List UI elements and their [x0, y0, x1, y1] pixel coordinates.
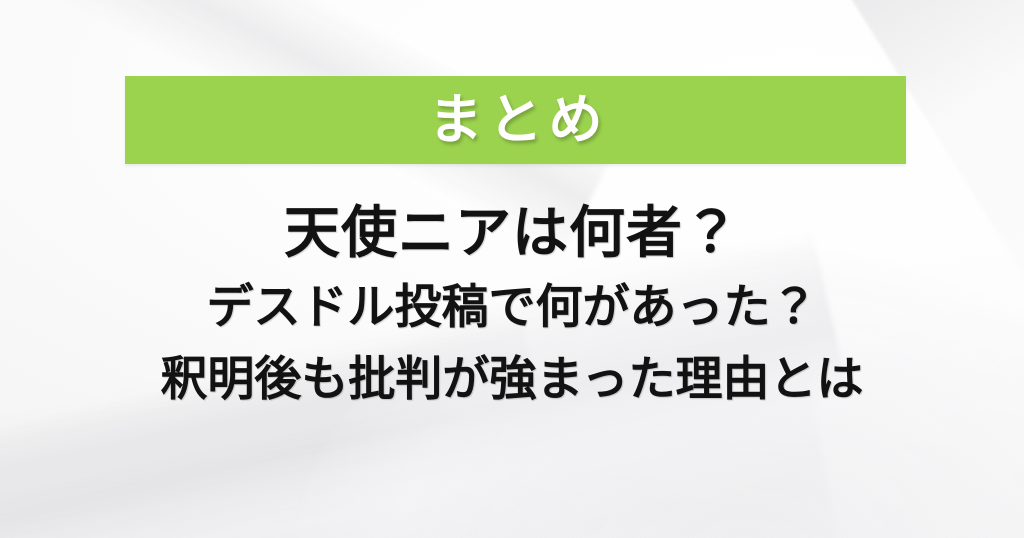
headline-line-1: 天使ニアは何者？	[0, 196, 1024, 272]
headline-line-2: デスドル投稿で何があった？	[0, 272, 1024, 344]
headline-line-3: 釈明後も批判が強まった理由とは	[0, 344, 1024, 416]
eyecatch-canvas: まとめ 天使ニアは何者？ デスドル投稿で何があった？ 釈明後も批判が強まった理由…	[0, 0, 1024, 538]
summary-banner-label: まとめ	[423, 93, 609, 147]
summary-banner: まとめ	[125, 76, 906, 164]
headline-block: 天使ニアは何者？ デスドル投稿で何があった？ 釈明後も批判が強まった理由とは	[0, 196, 1024, 416]
